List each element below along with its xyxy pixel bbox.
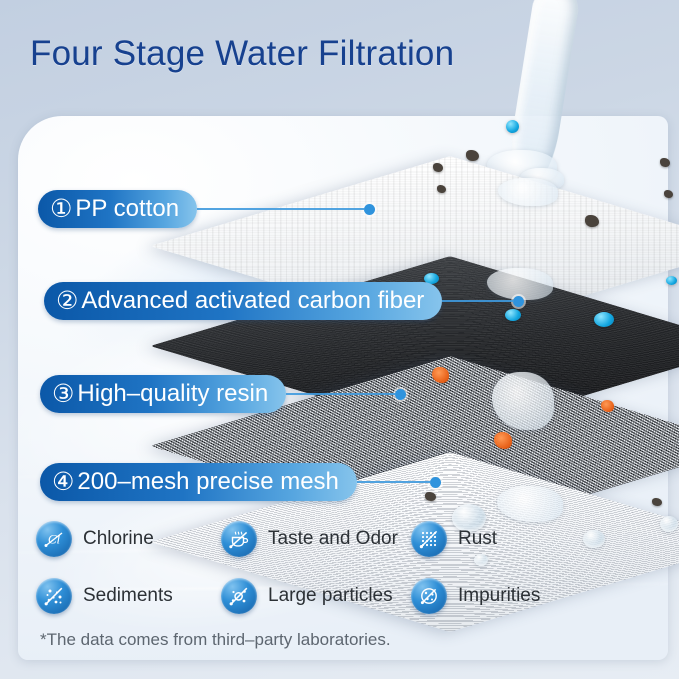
feature-label: Rust <box>458 528 497 550</box>
stage-label: 200–mesh precise mesh <box>77 470 338 494</box>
leader-dot <box>430 477 441 488</box>
feature-taste-and-odor[interactable]: Taste and Odor <box>221 521 411 557</box>
feature-label: Sediments <box>83 585 173 607</box>
leader-dot <box>395 389 406 400</box>
feature-row: Cl Chlorine Taste <box>36 516 636 562</box>
callout-stage-2[interactable]: ② Advanced activated carbon fiber <box>44 282 524 320</box>
stage-number: ① <box>50 197 72 222</box>
leader-line <box>286 393 396 395</box>
feature-sediments[interactable]: Sediments <box>36 578 221 614</box>
stage-pill-1[interactable]: ① PP cotton <box>38 190 197 228</box>
page-title: Four Stage Water Filtration <box>30 34 454 74</box>
leader-dot <box>364 204 375 215</box>
stage-pill-4[interactable]: ④ 200–mesh precise mesh <box>40 463 357 501</box>
feature-label: Large particles <box>268 585 393 607</box>
feature-impurities[interactable]: Impurities <box>411 578 540 614</box>
stage-number: ④ <box>52 470 74 495</box>
stage-number: ② <box>56 289 78 314</box>
feature-row: Sediments Large particles <box>36 573 636 619</box>
callout-stage-3[interactable]: ③ High–quality resin <box>40 375 406 413</box>
feature-list: Cl Chlorine Taste <box>36 516 636 630</box>
leader-line <box>442 300 514 302</box>
sediment-particles-icon <box>36 578 72 614</box>
stage-label: Advanced activated carbon fiber <box>81 289 424 313</box>
chlorine-cl-icon: Cl <box>36 521 72 557</box>
stage-pill-3[interactable]: ③ High–quality resin <box>40 375 286 413</box>
leader-dot <box>513 296 524 307</box>
callout-stage-4[interactable]: ④ 200–mesh precise mesh <box>40 463 441 501</box>
feature-rust[interactable]: Rust <box>411 521 497 557</box>
cup-steam-icon <box>221 521 257 557</box>
infographic-root: Four Stage Water Filtration <box>0 0 679 679</box>
callout-stage-1[interactable]: ① PP cotton <box>38 190 375 228</box>
feature-label: Impurities <box>458 585 540 607</box>
leader-line <box>197 208 365 210</box>
footnote: *The data comes from third–party laborat… <box>40 630 391 650</box>
feature-large-particles[interactable]: Large particles <box>221 578 411 614</box>
stage-label: High–quality resin <box>77 382 268 406</box>
dot-grid-icon <box>411 521 447 557</box>
feature-label: Taste and Odor <box>268 528 398 550</box>
stage-pill-2[interactable]: ② Advanced activated carbon fiber <box>44 282 442 320</box>
feature-chlorine[interactable]: Cl Chlorine <box>36 521 221 557</box>
leader-line <box>357 481 431 483</box>
stage-number: ③ <box>52 382 74 407</box>
stage-label: PP cotton <box>75 197 179 221</box>
feature-label: Chlorine <box>83 528 154 550</box>
large-particle-icon <box>221 578 257 614</box>
impurities-icon <box>411 578 447 614</box>
